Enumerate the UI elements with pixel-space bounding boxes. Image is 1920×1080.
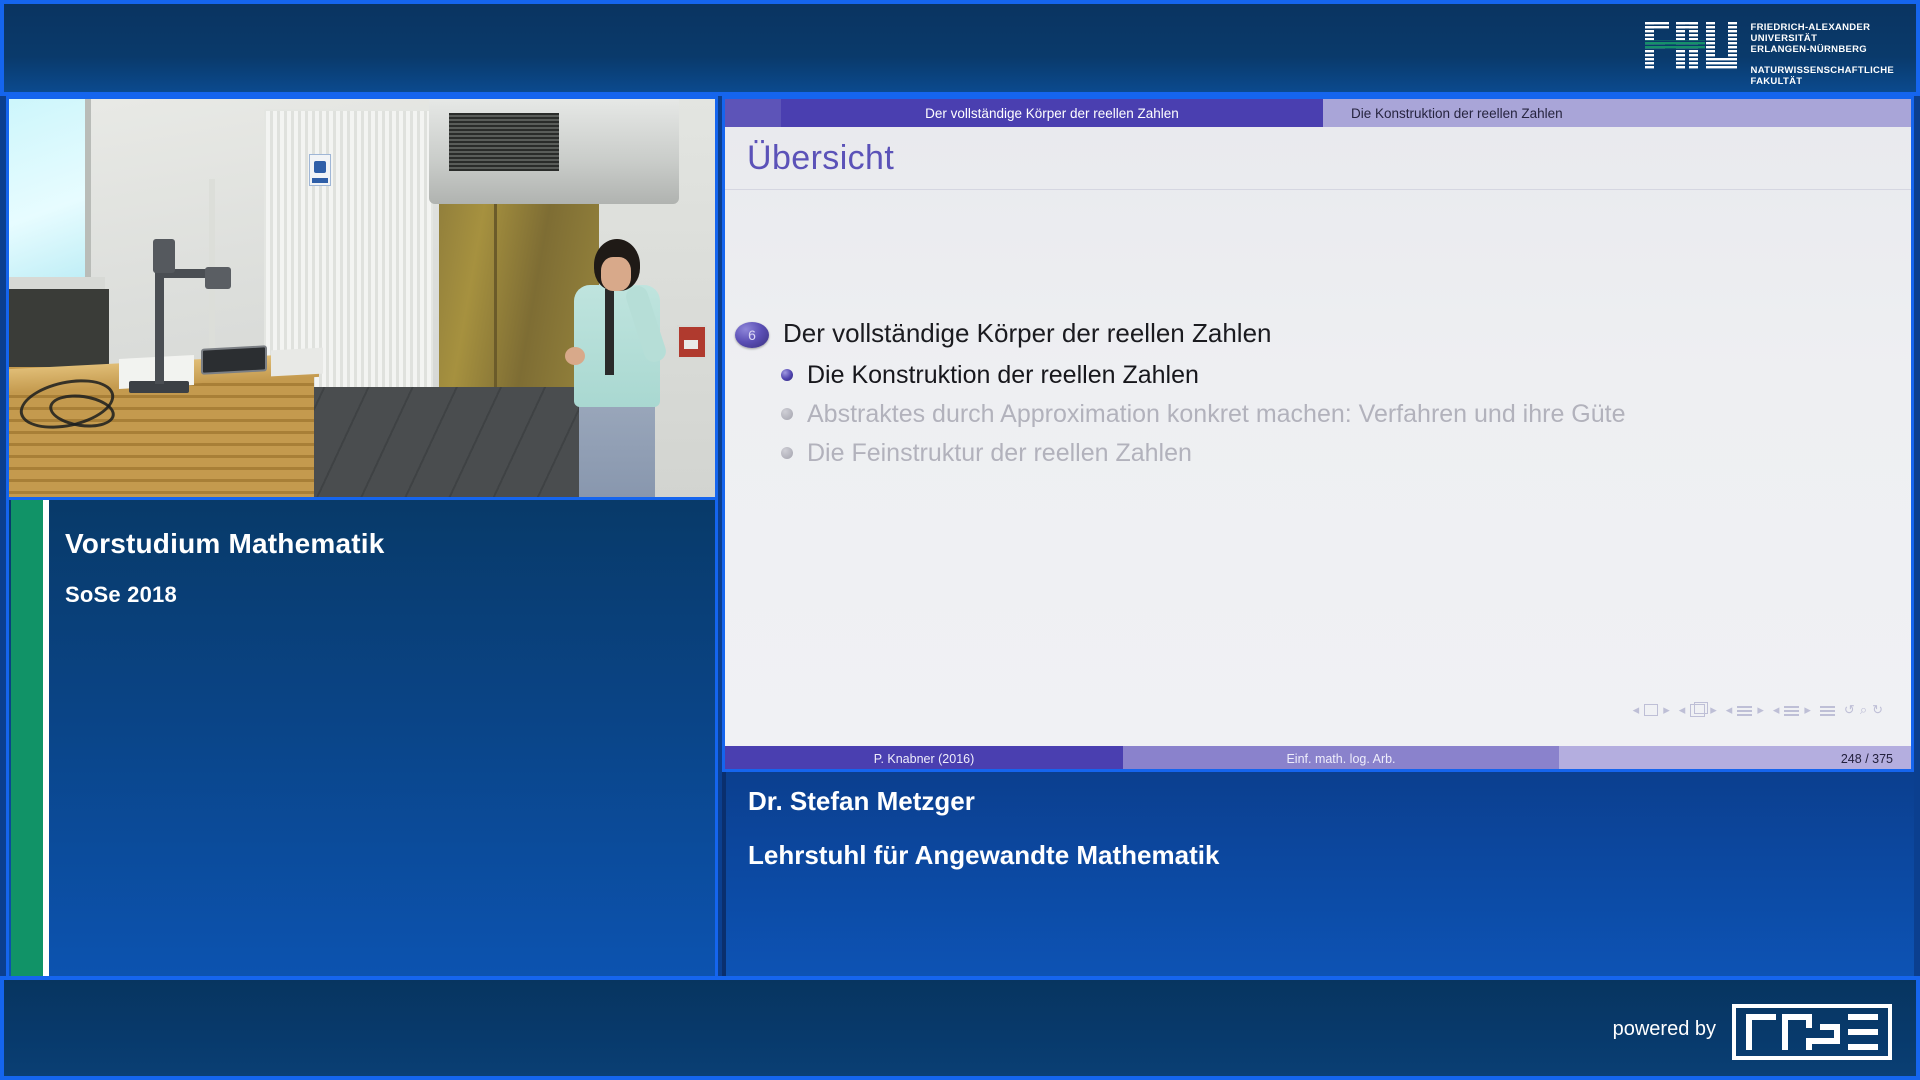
nav-subsection-group[interactable]: ◂ ▸ bbox=[1679, 702, 1717, 718]
toc-subsection-label: Die Konstruktion der reellen Zahlen bbox=[807, 359, 1199, 392]
lecturer-lanyard bbox=[605, 289, 614, 375]
wall-sign bbox=[309, 154, 331, 186]
top-header-band: FRIEDRICH-ALEXANDER UNIVERSITÄT ERLANGEN… bbox=[0, 0, 1920, 96]
fau-org-line3: ERLANGEN-NÜRNBERG bbox=[1751, 44, 1867, 55]
document-camera-top bbox=[153, 239, 175, 273]
prev-doc-icon[interactable]: ◂ bbox=[1773, 702, 1780, 718]
window-frame bbox=[85, 99, 91, 299]
section-number-badge: 6 bbox=[735, 322, 769, 348]
toc-section-row: 6 Der vollständige Körper der reellen Za… bbox=[735, 317, 1895, 351]
toc-icon[interactable] bbox=[1820, 704, 1835, 716]
slide-navigation-tabs: Der vollständige Körper der reellen Zahl… bbox=[725, 99, 1911, 127]
slide-title: Übersicht bbox=[747, 139, 894, 178]
document-camera-post bbox=[155, 274, 164, 384]
document-icon bbox=[1784, 704, 1799, 716]
footer-page-number: 248 / 375 bbox=[1559, 746, 1911, 772]
desk-equipment-box bbox=[271, 348, 323, 377]
lecturer-video[interactable] bbox=[6, 96, 718, 500]
list-item[interactable]: Die Konstruktion der reellen Zahlen bbox=[781, 359, 1895, 392]
fau-faculty-line1: NATURWISSENSCHAFTLICHE bbox=[1751, 65, 1894, 76]
beamer-navigation-bar[interactable]: ◂ ▸ ◂ ▸ ◂ ▸ ◂ ▸ bbox=[1633, 702, 1883, 718]
slide-title-rule bbox=[725, 189, 1911, 190]
footer-author: P. Knabner (2016) bbox=[725, 746, 1123, 772]
frame-icon bbox=[1644, 704, 1658, 716]
nav-history-group[interactable]: ↺ ⌕ ↻ bbox=[1844, 702, 1883, 718]
fire-alarm bbox=[677, 325, 707, 359]
tab-spacer bbox=[725, 99, 781, 127]
presenter-info-panel: Dr. Stefan Metzger Lehrstuhl für Angewan… bbox=[722, 772, 1914, 976]
slide-content: Übersicht 6 Der vollständige Körper der … bbox=[725, 127, 1911, 746]
table-of-contents: 6 Der vollständige Körper der reellen Za… bbox=[735, 317, 1895, 476]
fau-org-line2: UNIVERSITÄT bbox=[1751, 33, 1818, 44]
course-info-panel: Vorstudium Mathematik SoSe 2018 bbox=[6, 500, 718, 976]
bottom-band: powered by bbox=[0, 976, 1920, 1080]
fau-wordmark-icon bbox=[1643, 18, 1739, 74]
fau-org-text: FRIEDRICH-ALEXANDER UNIVERSITÄT ERLANGEN… bbox=[1751, 18, 1894, 87]
toc-section-title: Der vollständige Körper der reellen Zahl… bbox=[783, 317, 1272, 351]
slide-footer-bar: P. Knabner (2016) Einf. math. log. Arb. … bbox=[725, 746, 1911, 772]
lecture-room-scene bbox=[9, 99, 715, 497]
footer-course-short: Einf. math. log. Arb. bbox=[1123, 746, 1559, 772]
next-frame-icon[interactable]: ▸ bbox=[1663, 702, 1670, 718]
lecturer-hand bbox=[565, 347, 585, 365]
lecturer-legs bbox=[579, 399, 655, 500]
window-sill bbox=[9, 277, 105, 289]
fau-faculty-line2: FAKULTÄT bbox=[1751, 76, 1803, 87]
nav-frame-group[interactable]: ◂ ▸ bbox=[1633, 702, 1670, 718]
bullet-dot-icon bbox=[781, 369, 793, 381]
search-icon[interactable]: ⌕ bbox=[1860, 702, 1867, 718]
nav-section-group[interactable]: ◂ ▸ bbox=[1726, 702, 1764, 718]
forward-icon[interactable]: ↻ bbox=[1872, 702, 1883, 718]
bullet-dot-icon bbox=[781, 447, 793, 459]
presenter-chair: Lehrstuhl für Angewandte Mathematik bbox=[748, 840, 1219, 871]
lecture-recording-player: FRIEDRICH-ALEXANDER UNIVERSITÄT ERLANGEN… bbox=[0, 0, 1920, 1080]
fau-logo: FRIEDRICH-ALEXANDER UNIVERSITÄT ERLANGEN… bbox=[1643, 18, 1894, 82]
subsection-icon bbox=[1690, 704, 1705, 717]
course-title: Vorstudium Mathematik bbox=[65, 528, 385, 560]
presenter-name: Dr. Stefan Metzger bbox=[748, 786, 975, 817]
next-doc-icon[interactable]: ▸ bbox=[1804, 702, 1811, 718]
room-window bbox=[9, 99, 89, 279]
course-term: SoSe 2018 bbox=[65, 582, 177, 608]
powered-by-label: powered by bbox=[1613, 1018, 1716, 1041]
projector-grille bbox=[449, 113, 559, 171]
accent-bar-green bbox=[11, 500, 43, 976]
lecturer-face bbox=[601, 257, 631, 291]
list-item[interactable]: Die Feinstruktur der reellen Zahlen bbox=[781, 437, 1895, 470]
panel-divider bbox=[722, 772, 726, 976]
section-icon bbox=[1737, 704, 1752, 716]
list-item[interactable]: Abstraktes durch Approximation konkret m… bbox=[781, 398, 1895, 431]
tablet-device bbox=[201, 345, 267, 374]
rrze-logo-icon bbox=[1732, 1004, 1892, 1060]
next-section-icon[interactable]: ▸ bbox=[1757, 702, 1764, 718]
slide-viewer[interactable]: Der vollständige Körper der reellen Zahl… bbox=[722, 96, 1914, 772]
prev-subsection-icon[interactable]: ◂ bbox=[1679, 702, 1686, 718]
toc-subsection-label: Abstraktes durch Approximation konkret m… bbox=[807, 398, 1626, 431]
tab-section-active[interactable]: Der vollständige Körper der reellen Zahl… bbox=[781, 99, 1323, 127]
accent-bar-white bbox=[43, 500, 49, 976]
nav-doc-group[interactable]: ◂ ▸ bbox=[1773, 702, 1811, 718]
document-camera-head bbox=[205, 267, 231, 289]
tab-subsection[interactable]: Die Konstruktion der reellen Zahlen bbox=[1323, 99, 1911, 127]
back-icon[interactable]: ↺ bbox=[1844, 702, 1855, 718]
bullet-dot-icon bbox=[781, 408, 793, 420]
toc-subsection-label: Die Feinstruktur der reellen Zahlen bbox=[807, 437, 1192, 470]
toc-subsection-list: Die Konstruktion der reellen Zahlen Abst… bbox=[781, 359, 1895, 470]
prev-frame-icon[interactable]: ◂ bbox=[1633, 702, 1640, 718]
fau-org-line1: FRIEDRICH-ALEXANDER bbox=[1751, 22, 1871, 33]
prev-section-icon[interactable]: ◂ bbox=[1726, 702, 1733, 718]
next-subsection-icon[interactable]: ▸ bbox=[1710, 702, 1717, 718]
